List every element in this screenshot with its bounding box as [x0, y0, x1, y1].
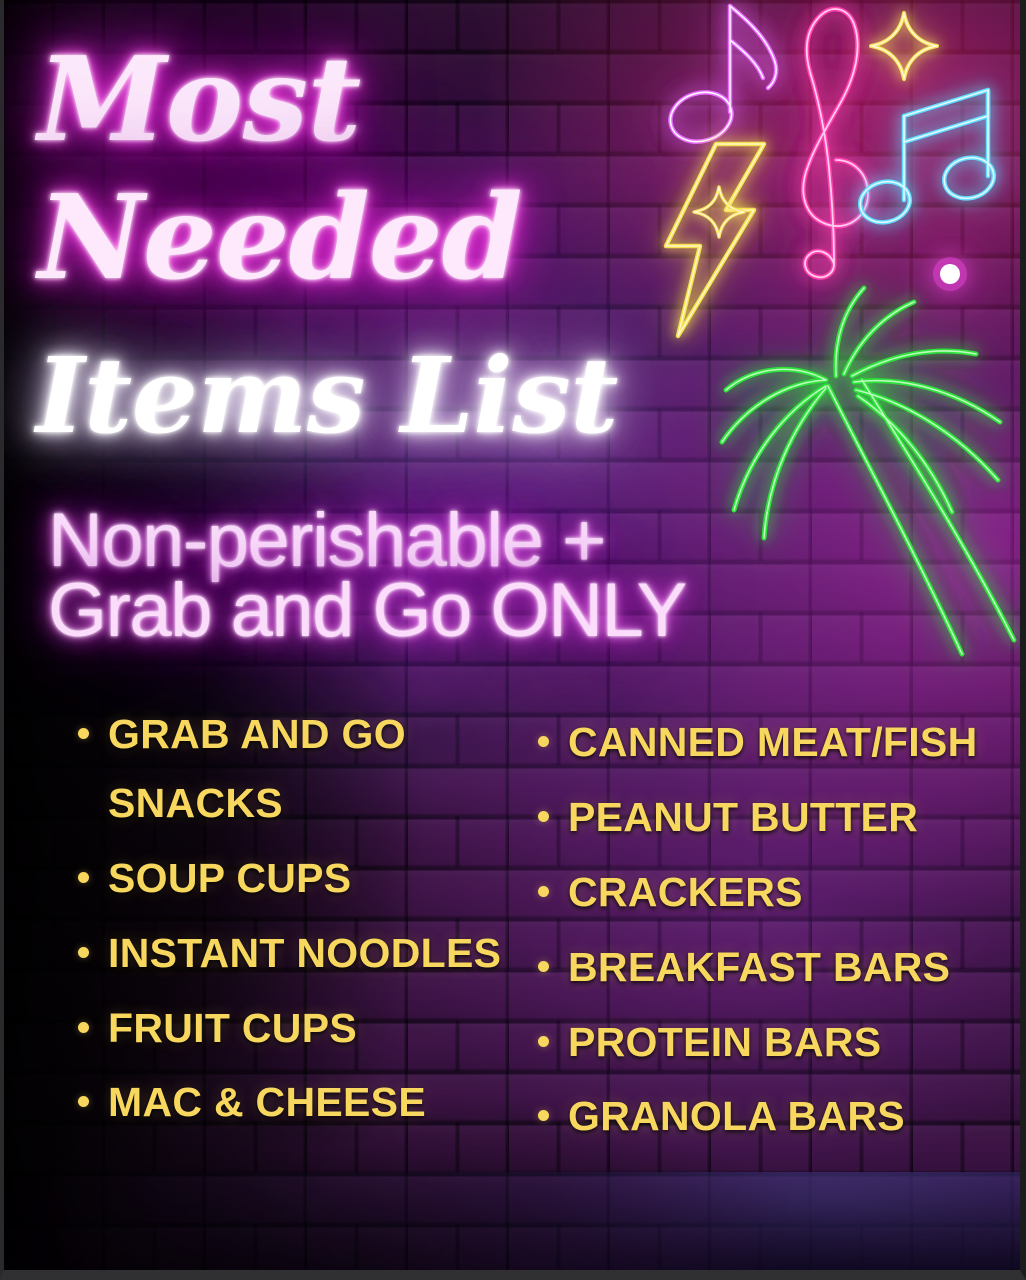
- list-item: BREAKFAST BARS: [526, 933, 996, 1002]
- needed-items-lists: GRAB AND GO SNACKSSOUP CUPSINSTANT NOODL…: [4, 700, 1020, 1157]
- page-title-line-2: Needed: [38, 180, 522, 296]
- poster-text-content: Most Needed Items List Non-perishable + …: [4, 0, 1020, 1270]
- list-item: MAC & CHEESE: [66, 1068, 526, 1137]
- page-title-line-1: Most: [38, 42, 361, 158]
- items-list-left-column: GRAB AND GO SNACKSSOUP CUPSINSTANT NOODL…: [66, 700, 526, 1143]
- list-item: FRUIT CUPS: [66, 994, 526, 1063]
- poster-subtitle: Non-perishable + Grab and Go ONLY: [48, 506, 686, 646]
- subtitle-line-1: Non-perishable +: [48, 506, 686, 576]
- list-item: GRAB AND GO SNACKS: [66, 700, 526, 838]
- list-item: INSTANT NOODLES: [66, 919, 526, 988]
- list-item: PEANUT BUTTER: [526, 783, 996, 852]
- page-title-line-3: Items List: [36, 344, 618, 448]
- list-item: GRANOLA BARS: [526, 1082, 996, 1151]
- list-item: PROTEIN BARS: [526, 1008, 996, 1077]
- subtitle-line-2: Grab and Go ONLY: [48, 576, 686, 646]
- list-item: CANNED MEAT/FISH: [526, 708, 996, 777]
- list-item: SOUP CUPS: [66, 844, 526, 913]
- list-item: CRACKERS: [526, 858, 996, 927]
- neon-most-needed-items-poster: Most Needed Items List Non-perishable + …: [0, 0, 1026, 1280]
- items-list-right-column: CANNED MEAT/FISHPEANUT BUTTERCRACKERSBRE…: [526, 700, 996, 1157]
